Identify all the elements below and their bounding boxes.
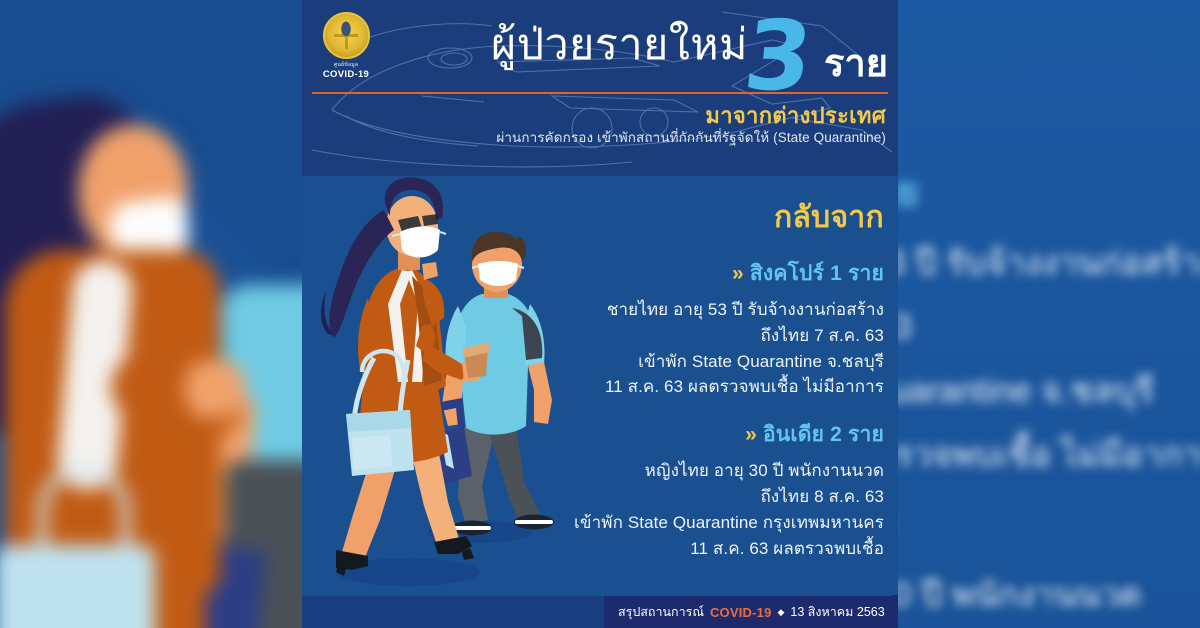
chevron-right-icon: » bbox=[745, 423, 757, 446]
emblem-caption-main: COVID-19 bbox=[314, 69, 378, 80]
case-country-heading: »สิงคโปร์ 1 ราย bbox=[554, 257, 884, 290]
header-note: ผ่านการคัดกรอง เข้าพักสถานที่กักกันที่รั… bbox=[496, 126, 886, 148]
case-detail-line: 11 ส.ค. 63 ผลตรวจพบเชื้อ bbox=[554, 536, 884, 562]
backdrop-entry-line: ชายไทย อายุ 53 ปี รับจ้างงานก่อสร้าง bbox=[898, 235, 1200, 289]
backdrop-entry-line: ถึงไทย 7 ส.ค. 63 bbox=[898, 299, 1200, 353]
backdrop-entry-country: อินเดีย 2 ราย bbox=[898, 491, 1200, 555]
case-detail-line: เข้าพัก State Quarantine กรุงเทพมหานคร bbox=[554, 510, 884, 536]
backdrop-entry-country: สิงคโปร์ 1 ราย bbox=[898, 159, 1200, 223]
backdrop-entry-line: เข้าพัก State Quarantine จ.ชลบุรี bbox=[898, 363, 1200, 417]
emblem-logo: ศูนย์ข้อมูล COVID-19 bbox=[314, 12, 378, 80]
chevron-right-icon: » bbox=[732, 262, 744, 285]
footer-separator-icon: ◆ bbox=[778, 607, 785, 618]
header-band: ศูนย์ข้อมูล COVID-19 ผู้ป่วยรายใหม่ 3 รา… bbox=[302, 0, 898, 176]
case-detail-line: ชายไทย อายุ 53 ปี รับจ้างงานก่อสร้าง bbox=[554, 297, 884, 323]
backdrop-entry-line: 11 ส.ค. 63 ผลตรวจพบเชื้อ ไม่มีอาการ bbox=[898, 427, 1200, 481]
page-title: ผู้ป่วยรายใหม่ bbox=[491, 22, 748, 69]
panel-body: กลับจาก »สิงคโปร์ 1 ราย ชายไทย อายุ 53 ป… bbox=[302, 176, 898, 596]
footer-report-label: สรุปสถานการณ์ bbox=[618, 602, 704, 622]
infographic-panel: ศูนย์ข้อมูล COVID-19 ผู้ป่วยรายใหม่ 3 รา… bbox=[302, 0, 898, 628]
backdrop-entry-line: หญิงไทย อายุ 30 ปี พนักงานนวด bbox=[898, 567, 1200, 621]
new-case-count-unit: ราย bbox=[824, 32, 888, 93]
case-country-label: อินเดีย 2 ราย bbox=[763, 423, 884, 446]
case-detail-line: เข้าพัก State Quarantine จ.ชลบุรี bbox=[554, 349, 884, 375]
header-divider bbox=[312, 92, 888, 94]
backdrop-heading: กลับจาก bbox=[898, 42, 1200, 135]
case-country-label: สิงคโปร์ 1 ราย bbox=[750, 262, 884, 285]
section-heading: กลับจาก bbox=[554, 194, 884, 241]
case-detail-line: ถึงไทย 7 ส.ค. 63 bbox=[554, 323, 884, 349]
footer-brand: COVID-19 bbox=[710, 605, 772, 620]
footer-date: 13 สิงหาคม 2563 bbox=[790, 602, 884, 622]
backdrop-right-text: กลับจาก สิงคโปร์ 1 ราย ชายไทย อายุ 53 ปี… bbox=[898, 0, 1200, 628]
case-detail-line: 11 ส.ค. 63 ผลตรวจพบเชื้อ ไม่มีอาการ bbox=[554, 374, 884, 400]
garuda-seal-icon bbox=[323, 12, 370, 59]
footer-bar: สรุปสถานการณ์ COVID-19 ◆ 13 สิงหาคม 2563… bbox=[604, 596, 898, 628]
backdrop-left-illustration bbox=[0, 0, 310, 628]
emblem-caption-small: ศูนย์ข้อมูล bbox=[314, 61, 378, 69]
case-entry: »สิงคโปร์ 1 ราย ชายไทย อายุ 53 ปี รับจ้า… bbox=[554, 257, 884, 400]
case-detail-line: หญิงไทย อายุ 30 ปี พนักงานนวด bbox=[554, 458, 884, 484]
footer-left: สรุปสถานการณ์ COVID-19 ◆ 13 สิงหาคม 2563 bbox=[618, 602, 885, 622]
footer-notch bbox=[891, 595, 898, 605]
case-country-heading: »อินเดีย 2 ราย bbox=[554, 418, 884, 451]
cases-column: กลับจาก »สิงคโปร์ 1 ราย ชายไทย อายุ 53 ป… bbox=[554, 186, 884, 580]
case-entry: »อินเดีย 2 ราย หญิงไทย อายุ 30 ปี พนักงา… bbox=[554, 418, 884, 561]
case-detail-line: ถึงไทย 8 ส.ค. 63 bbox=[554, 484, 884, 510]
new-case-count: 3 bbox=[740, 8, 817, 104]
